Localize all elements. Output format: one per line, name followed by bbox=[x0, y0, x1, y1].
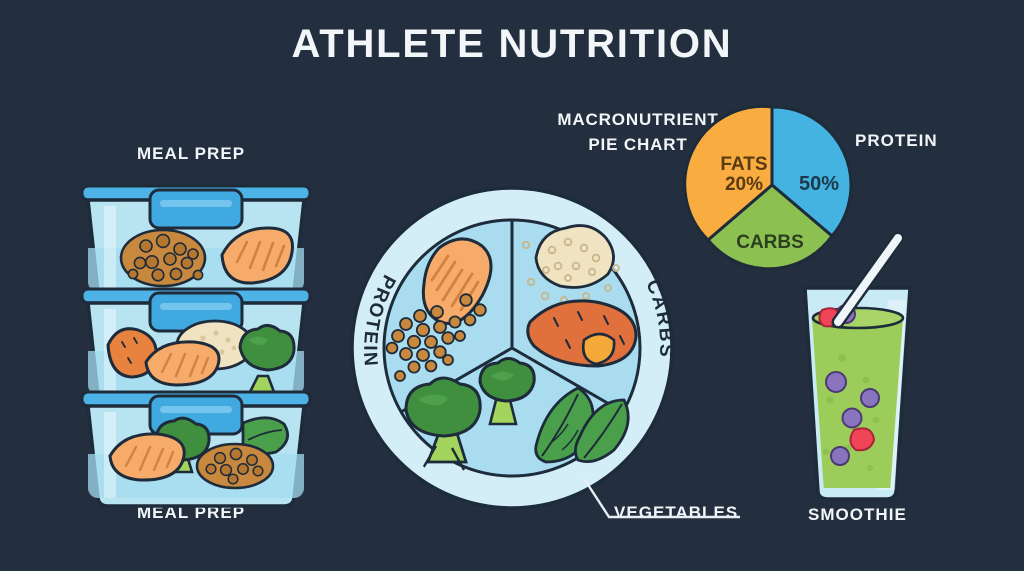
pie-label-fats: FATS bbox=[720, 154, 767, 175]
pie-value-carbs: CARBS bbox=[736, 232, 804, 253]
meal-prep-stack bbox=[82, 186, 310, 506]
meal-prep-container-3 bbox=[82, 392, 310, 506]
food-lentils bbox=[197, 444, 273, 488]
pie-value-fats: 20% bbox=[725, 174, 763, 195]
meal-prep-container-2 bbox=[82, 289, 310, 403]
vegetables-leader-line bbox=[583, 477, 740, 517]
macronutrient-pie-chart: 50% CARBS FATS 20% bbox=[685, 106, 851, 268]
food-lentils bbox=[121, 230, 205, 286]
infographic-canvas: ATHLETE NUTRITION MACRONUTRIENT PIE CHAR… bbox=[0, 0, 1024, 571]
pie-value-protein: 50% bbox=[799, 173, 839, 195]
smoothie-illustration bbox=[805, 238, 910, 499]
illustration-layer: PROTEINS CARBS bbox=[0, 0, 1024, 571]
meal-prep-container-1 bbox=[82, 186, 310, 300]
